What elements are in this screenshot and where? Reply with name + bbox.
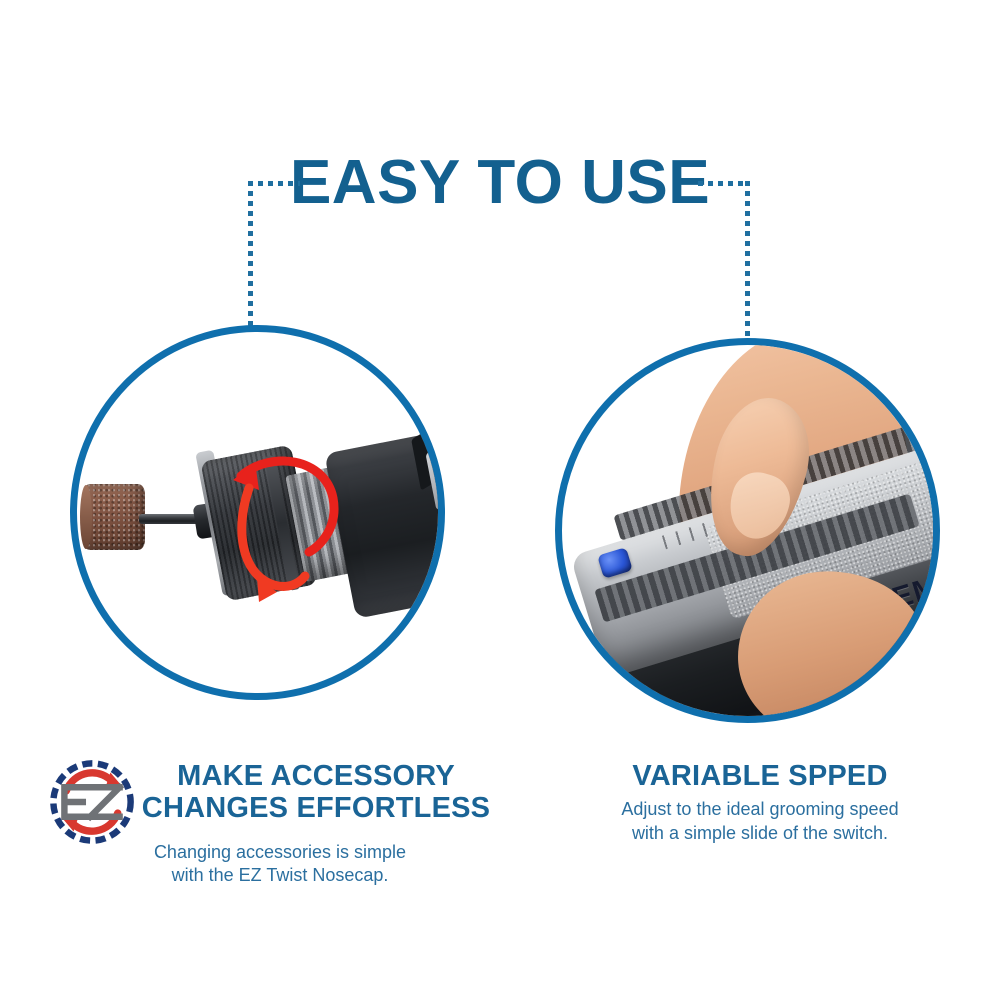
caption-sub-line-1: Changing accessories is simple [20,841,540,864]
photo-circle-accessory-change [70,325,445,700]
product-feature-graphic: EASY TO USE [0,0,1000,1000]
page-title: EASY TO USE [0,152,1000,214]
sanding-drum-face [80,485,92,549]
caption-heading-block: MAKE ACCESSORY CHANGES EFFORTLESS [92,760,540,825]
caption-sub-line-2: with a simple slide of the switch. [540,822,980,845]
caption-heading-line-1: VARIABLE SPPED [540,760,980,792]
caption-variable-speed: VARIABLE SPPED Adjust to the ideal groom… [540,760,980,845]
caption-sub-line-1: Adjust to the ideal grooming speed [540,798,980,821]
caption-heading-line-1: MAKE ACCESSORY [92,760,540,792]
caption-sub-line-2: with the EZ Twist Nosecap. [20,864,540,887]
tool-blue-accent [428,416,445,435]
photo-circle-variable-speed: DREM [555,338,940,723]
sanding-drum-accessory [83,484,145,550]
rotation-arrow-icon [213,436,373,616]
mandrel-shaft [139,514,201,524]
caption-accessory-change: MAKE ACCESSORY CHANGES EFFORTLESS Changi… [20,760,540,888]
variable-speed-illustration: DREM [562,345,933,716]
caption-heading-line-2: CHANGES EFFORTLESS [92,792,540,824]
accessory-change-illustration [77,332,438,693]
